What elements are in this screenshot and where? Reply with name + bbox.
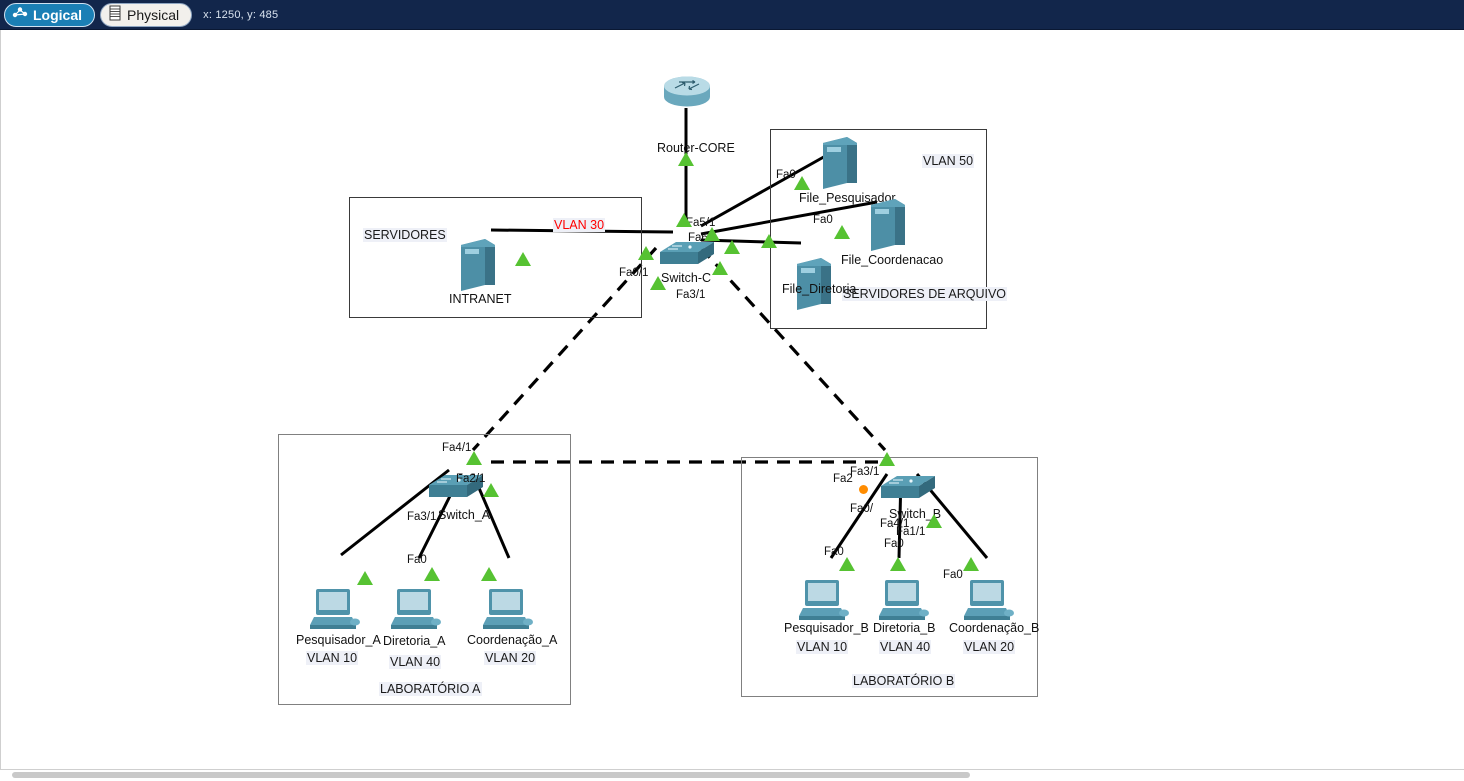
coordenacao-a-vlan: VLAN 20 (484, 651, 536, 665)
port-switcha-fa3-1: Fa3/1 (407, 511, 436, 524)
laboratorio-b-title: LABORATÓRIO B (852, 674, 955, 688)
port-switchc-fa0-1: Fa0/1 (619, 267, 648, 280)
link-status-intranet (515, 252, 531, 266)
diretoria-a-vlan: VLAN 40 (389, 655, 441, 669)
link-status-switchc-left (638, 246, 654, 260)
link-status-switcha-up (466, 451, 482, 465)
packet-tracer-window: Logical Physical x: 1250, y: 485 (0, 0, 1464, 781)
coordenacao-b-vlan: VLAN 20 (963, 640, 1015, 654)
view-toolbar: Logical Physical x: 1250, y: 485 (0, 0, 1464, 30)
link-status-switcha-p1 (357, 571, 373, 585)
vlan50-label: VLAN 50 (922, 154, 974, 168)
link-status-switchb-up (879, 452, 895, 466)
horizontal-scrollbar[interactable] (0, 769, 1464, 781)
laboratorio-a-title: LABORATÓRIO A (379, 682, 482, 696)
device-pesquisador-b-label: Pesquisador_B (784, 621, 869, 635)
pesquisador-a-vlan: VLAN 10 (306, 651, 358, 665)
device-switch-c-label: Switch-C (661, 271, 711, 285)
device-switch-c[interactable] (658, 238, 716, 273)
device-pesquisador-a[interactable] (310, 587, 362, 638)
device-coordenacao-a-label: Coordenação_A (467, 633, 557, 647)
port-switcha-fa2-1: Fa2/1 (456, 473, 485, 486)
servidores-group-title: SERVIDORES (363, 228, 447, 242)
pesquisador-b-vlan: VLAN 10 (796, 640, 848, 654)
device-diretoria-b-label: Diretoria_B (873, 621, 936, 635)
logical-workspace[interactable]: SERVIDORES VLAN 30 INTRANET VLAN 50 SERV… (0, 30, 1464, 770)
port-file-pesquisador-fa0: Fa0 (776, 169, 796, 182)
tab-logical[interactable]: Logical (4, 3, 95, 27)
device-diretoria-a[interactable] (391, 587, 443, 638)
port-switchb-fa3-1: Fa3/1 (850, 466, 879, 479)
device-intranet[interactable] (457, 237, 499, 298)
horizontal-scrollbar-thumb[interactable] (12, 772, 970, 778)
diretoria-b-vlan: VLAN 40 (879, 640, 931, 654)
device-file-diretoria-label: File_Diretoria (782, 282, 856, 296)
port-switchb-fa2: Fa2 (833, 473, 853, 486)
device-router-core-label: Router-CORE (657, 141, 735, 155)
device-switch-b[interactable] (879, 472, 937, 507)
device-switch-a-label: Switch_A (438, 508, 490, 522)
tab-logical-label: Logical (33, 7, 82, 23)
link-status-switchb-down (859, 485, 868, 494)
port-file-coordenacao-fa0: Fa0 (813, 214, 833, 227)
device-coordenacao-a[interactable] (483, 587, 535, 638)
link-status-switchc-up (676, 213, 692, 227)
device-pesquisador-a-label: Pesquisador_A (296, 633, 381, 647)
link-status-switcha-right (483, 483, 499, 497)
device-file-pesquisador[interactable] (819, 135, 861, 196)
vlan30-label: VLAN 30 (553, 218, 605, 232)
link-status-switchc-bl (650, 276, 666, 290)
link-status-switchb-p3 (963, 557, 979, 571)
vlan50-group-title: SERVIDORES DE ARQUIVO (842, 287, 1007, 301)
port-pc-b3-fa0: Fa0 (943, 569, 963, 582)
link-status-file-coordenacao (834, 225, 850, 239)
cursor-coordinates: x: 1250, y: 485 (203, 9, 278, 21)
device-coordenacao-b-label: Coordenação_B (949, 621, 1039, 635)
device-file-coordenacao-label: File_Coordenacao (841, 253, 943, 267)
device-diretoria-a-label: Diretoria_A (383, 634, 446, 648)
link-status-switcha-p2 (424, 567, 440, 581)
device-intranet-label: INTRANET (449, 292, 512, 306)
link-status-switchb-p2 (890, 557, 906, 571)
port-pc-b2-fa0: Fa0 (884, 538, 904, 551)
rack-icon (108, 5, 122, 24)
port-switchc-fa3-1: Fa3/1 (676, 289, 705, 302)
tab-physical-label: Physical (127, 7, 179, 23)
port-pc-b1-fa0: Fa0 (824, 546, 844, 559)
link-status-switcha-p3 (481, 567, 497, 581)
network-nodes-icon (12, 6, 28, 23)
port-pc-a-fa0: Fa0 (407, 554, 427, 567)
device-file-coordenacao[interactable] (867, 197, 909, 258)
link-status-router-core (678, 152, 694, 166)
link-status-switchc-r1 (704, 227, 720, 241)
link-status-file-diretoria (761, 234, 777, 248)
link-status-switchb-p1 (839, 557, 855, 571)
link-status-switchc-r3 (712, 261, 728, 275)
link-status-switchc-r2 (724, 240, 740, 254)
device-router-core[interactable] (661, 75, 713, 116)
port-switchb-fa0-1: Fa0/ (850, 503, 873, 516)
link-status-file-pesquisador (794, 176, 810, 190)
link-status-switchb-right (926, 514, 942, 528)
tab-physical[interactable]: Physical (100, 3, 192, 27)
